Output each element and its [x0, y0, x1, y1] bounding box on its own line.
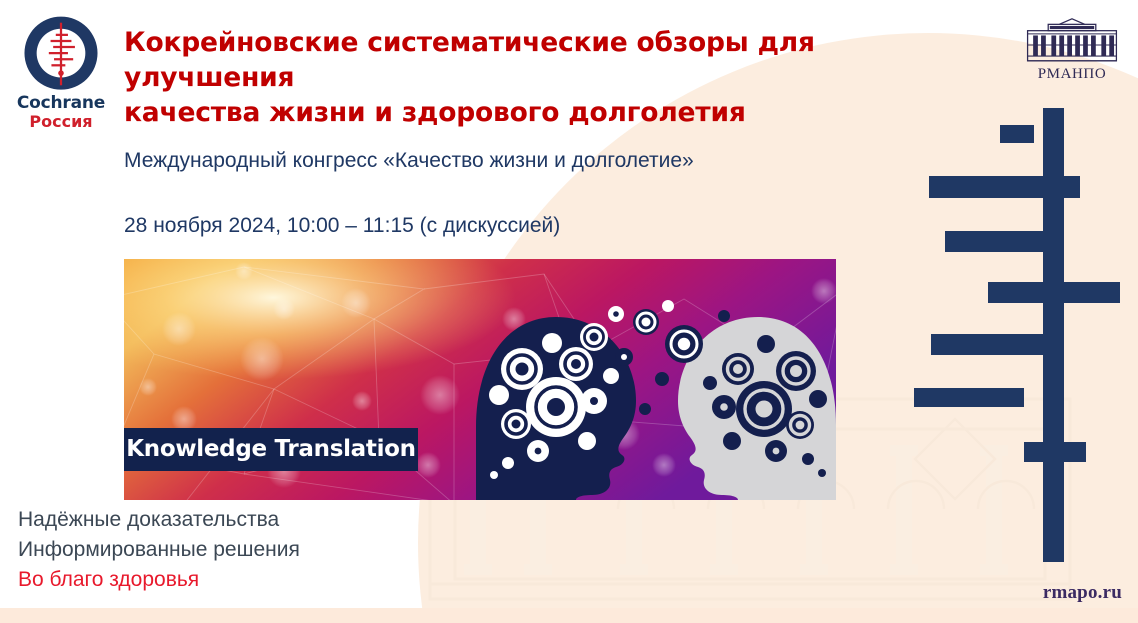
cochrane-logo: Cochrane Россия: [12, 14, 110, 136]
page-title-line-2: качества жизни и здорового долголетия: [124, 96, 994, 131]
tagline-line-1: Надёжные доказательства: [18, 505, 438, 535]
event-datetime: 28 ноября 2024, 10:00 – 11:15 (с дискусс…: [124, 212, 944, 239]
cochrane-forest-plot-circle-icon: [17, 14, 105, 94]
forest-plot-bars: [900, 100, 1138, 570]
bottom-cream-band: [0, 608, 1138, 623]
rmanpo-building-icon: [1024, 18, 1120, 64]
page-title-line-1: Кокрейновские систематические обзоры для…: [124, 26, 994, 96]
forest-plot-graphic: [900, 100, 1138, 570]
tagline-block: Надёжные доказательства Информированные …: [18, 505, 438, 595]
page-title: Кокрейновские систематические обзоры для…: [124, 26, 994, 131]
knowledge-translation-banner: Knowledge Translation: [124, 259, 836, 500]
tagline-line-3: Во благо здоровья: [18, 565, 438, 595]
hero-caption: Knowledge Translation: [124, 428, 418, 471]
rmanpo-label: РМАНПО: [1022, 66, 1122, 83]
cochrane-region-label: Россия: [12, 113, 110, 131]
slide-canvas: Cochrane Россия: [0, 0, 1138, 623]
footer-website-url: rmapo.ru: [1043, 582, 1122, 604]
tagline-line-2: Информированные решения: [18, 535, 438, 565]
cochrane-wordmark: Cochrane: [12, 95, 110, 113]
rmanpo-logo: РМАНПО: [1022, 18, 1122, 83]
event-subtitle: Международный конгресс «Качество жизни и…: [124, 147, 944, 174]
